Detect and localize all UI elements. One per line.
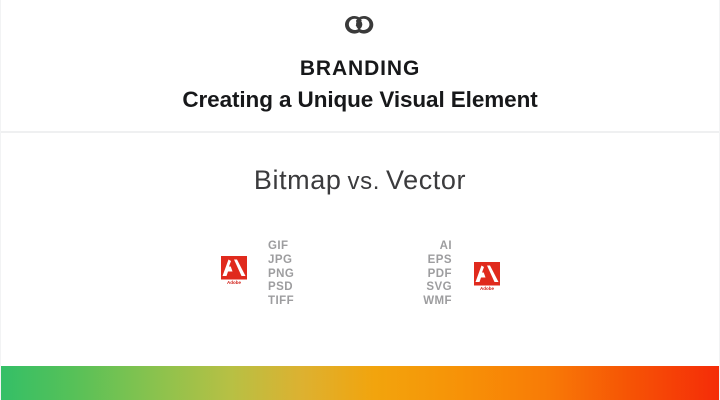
adobe-logo: Adobe <box>221 256 247 286</box>
list-item: PSD <box>268 281 294 295</box>
list-item: PDF <box>371 268 452 282</box>
page-subtitle: Creating a Unique Visual Element <box>1 87 719 113</box>
comparison-heading: Bitmapvs.Vector <box>1 165 719 196</box>
list-item: PNG <box>268 268 294 282</box>
heading-versus: vs. <box>342 168 386 195</box>
adobe-logo: Adobe <box>474 262 500 292</box>
svg-text:Adobe: Adobe <box>480 286 494 291</box>
list-item: TIFF <box>268 295 294 309</box>
list-item: WMF <box>371 295 452 309</box>
bitmap-format-list: GIF JPG PNG PSD TIFF <box>268 240 294 309</box>
adobe-creative-cloud-logo <box>344 15 376 43</box>
list-item: EPS <box>371 254 452 268</box>
page-title: BRANDING <box>1 57 719 81</box>
list-item: AI <box>371 240 452 254</box>
list-item: GIF <box>268 240 294 254</box>
list-item: JPG <box>268 254 294 268</box>
svg-text:Adobe: Adobe <box>227 280 241 285</box>
slide-header: BRANDING Creating a Unique Visual Elemen… <box>1 0 719 133</box>
list-item: SVG <box>371 281 452 295</box>
footer-gradient-bar <box>1 366 719 400</box>
slide-canvas: BRANDING Creating a Unique Visual Elemen… <box>0 0 720 400</box>
format-comparison: GIF JPG PNG PSD TIFF AI EPS PDF SVG WMF <box>1 240 719 320</box>
heading-term-vector: Vector <box>386 165 466 195</box>
vector-format-list: AI EPS PDF SVG WMF <box>371 240 452 309</box>
heading-term-bitmap: Bitmap <box>254 165 342 195</box>
